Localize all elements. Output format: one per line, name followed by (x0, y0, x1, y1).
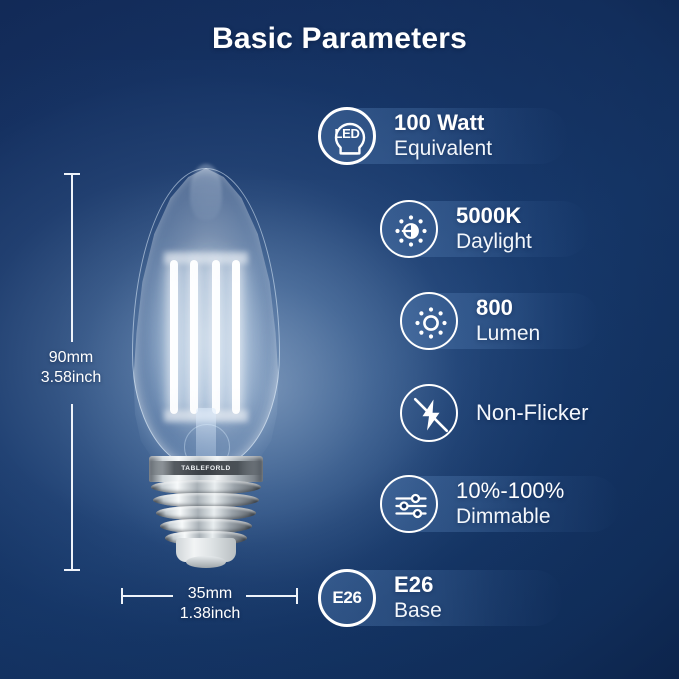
spec-row-dimmable: 10%-100% Dimmable (380, 472, 564, 536)
height-imperial: 3.58inch (6, 368, 136, 388)
thread-ring (156, 506, 256, 520)
spec-primary-value: 100 Watt (394, 110, 492, 136)
bulb-glass-tip-highlight (190, 164, 222, 220)
spec-row-lumen: 800 Lumen (400, 289, 540, 353)
bulb-screw-threads (151, 480, 261, 546)
filament-group (168, 260, 244, 414)
filament-strip (212, 260, 220, 414)
spec-primary-value: 800 (476, 295, 540, 321)
spec-labels: Non-Flicker (476, 400, 588, 426)
spec-labels: 10%-100% Dimmable (456, 478, 564, 530)
spec-labels: 5000K Daylight (456, 203, 532, 255)
brightness-sun-icon (400, 292, 458, 350)
width-dimension-label: 35mm 1.38inch (139, 584, 281, 624)
width-dimension-cap-right (296, 588, 298, 604)
spec-primary-value: 5000K (456, 203, 532, 229)
color-temperature-icon (380, 200, 438, 258)
base-type-icon: E26 (318, 569, 376, 627)
spec-primary-value: Non-Flicker (476, 400, 588, 426)
spec-row-base: E26 E26 Base (318, 566, 442, 630)
width-dimension-line-right (246, 595, 298, 597)
product-image-led-bulb: TABLEFORLD (120, 168, 292, 572)
bulb-base-contact (186, 556, 226, 568)
filament-strip (232, 260, 240, 414)
thread-ring (151, 480, 261, 494)
spec-secondary-value: Lumen (476, 321, 540, 347)
page-title: Basic Parameters (0, 22, 679, 56)
spec-labels: 800 Lumen (476, 295, 540, 347)
brand-label: TABLEFORLD (149, 461, 263, 475)
spec-secondary-value: Base (394, 598, 442, 624)
width-metric: 35mm (139, 584, 281, 604)
width-imperial: 1.38inch (139, 604, 281, 624)
spec-row-wattage: LED 100 Watt Equivalent (318, 104, 492, 168)
no-flicker-icon (400, 384, 458, 442)
led-bulb-icon: LED (318, 107, 376, 165)
base-icon-text: E26 (321, 572, 373, 624)
thread-ring (153, 493, 259, 507)
height-metric: 90mm (6, 348, 136, 368)
height-dimension-label: 90mm 3.58inch (6, 348, 136, 388)
dimmer-sliders-icon (380, 475, 438, 533)
product-spec-infographic: Basic Parameters TABLEFORLD (0, 0, 679, 679)
spec-primary-value: E26 (394, 572, 442, 598)
spec-primary-value: 10%-100% (456, 478, 564, 504)
spec-row-color-temperature: 5000K Daylight (380, 197, 532, 261)
height-dimension-cap-bottom (64, 569, 80, 571)
spec-secondary-value: Equivalent (394, 136, 492, 162)
filament-strip (190, 260, 198, 414)
height-dimension-line-lower (71, 404, 73, 570)
filament-strip (170, 260, 178, 414)
spec-secondary-value: Dimmable (456, 504, 564, 530)
led-icon-text: LED (321, 104, 373, 162)
spec-labels: E26 Base (394, 572, 442, 624)
spec-labels: 100 Watt Equivalent (394, 110, 492, 162)
spec-secondary-value: Daylight (456, 229, 532, 255)
height-dimension-line-upper (71, 174, 73, 342)
spec-row-non-flicker: Non-Flicker (400, 381, 588, 445)
